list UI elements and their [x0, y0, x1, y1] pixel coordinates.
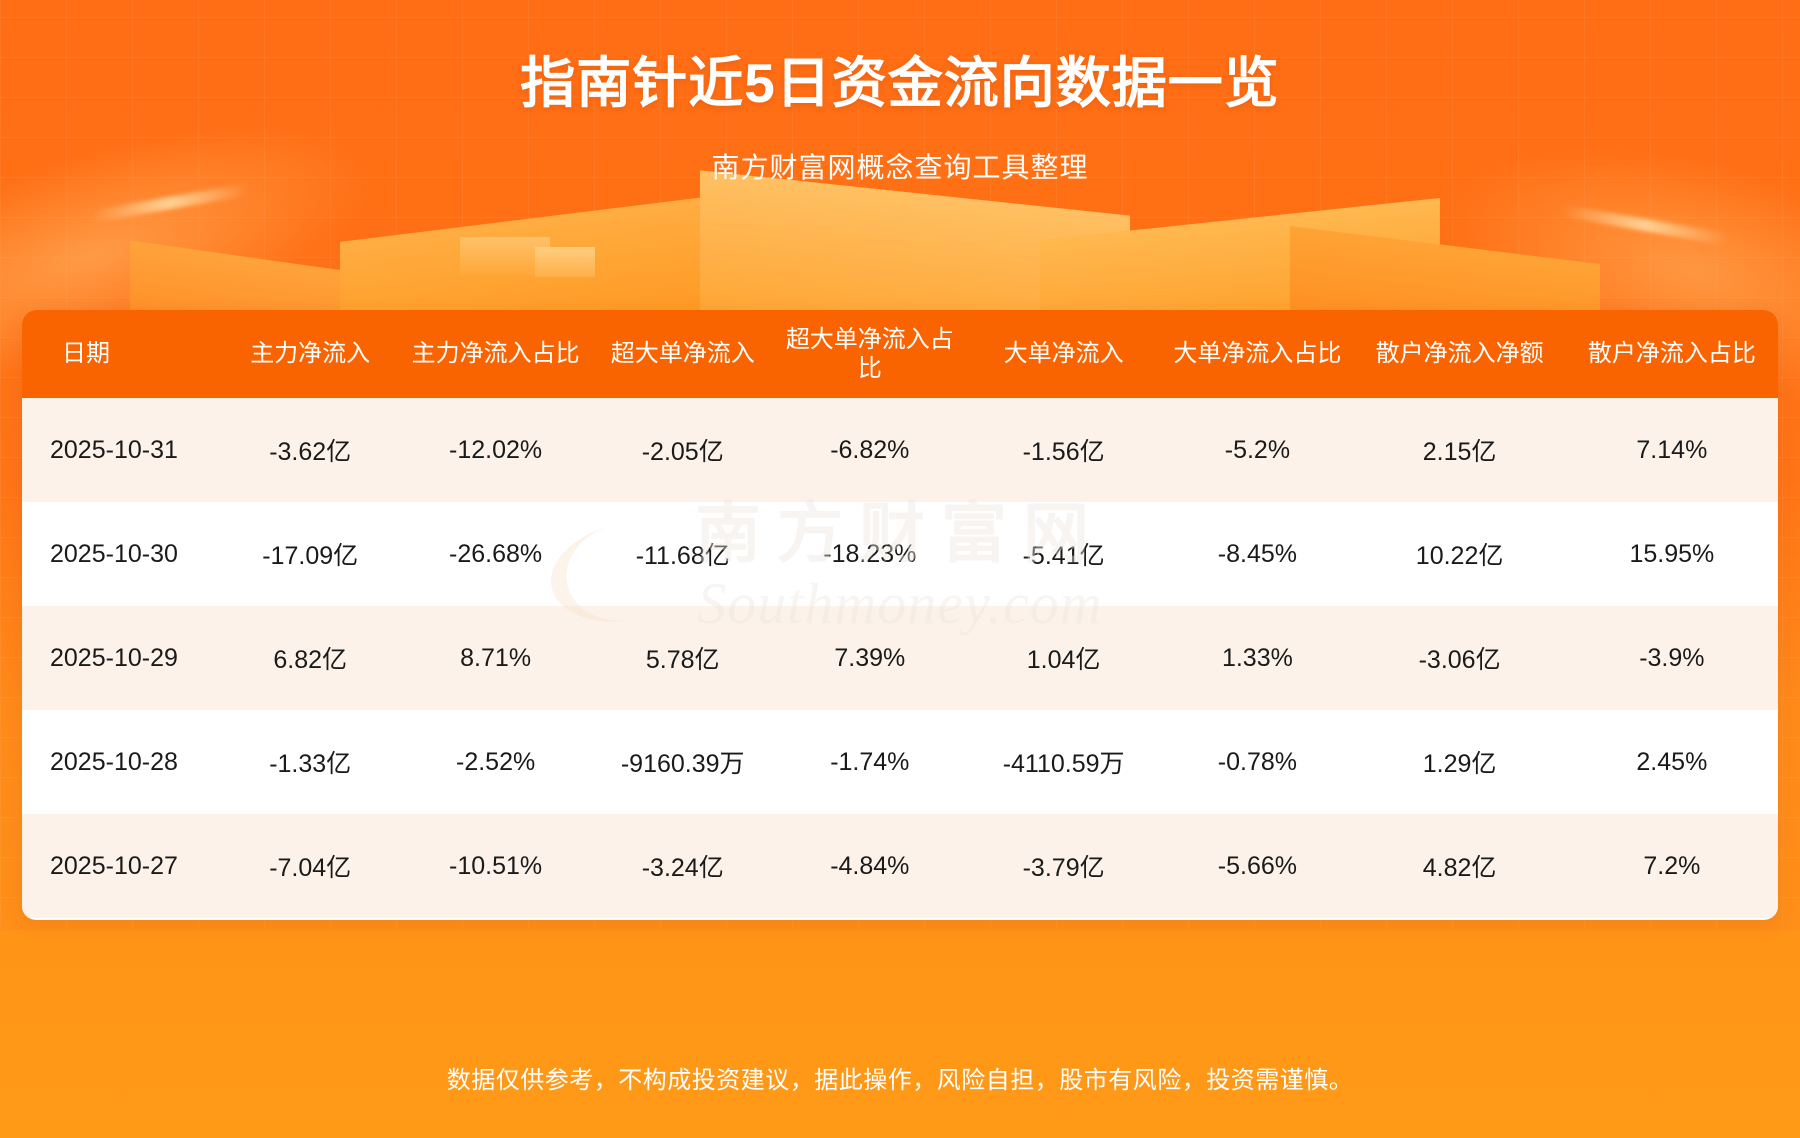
table-body: 2025-10-31 -3.62亿 -12.02% -2.05亿 -6.82% …: [22, 398, 1778, 918]
cell-xl-pct: -6.82%: [774, 398, 966, 502]
cell-large-net: 1.04亿: [966, 606, 1161, 710]
cell-large-pct: -5.66%: [1161, 814, 1353, 918]
cell-date: 2025-10-28: [22, 710, 221, 814]
disclaimer-text: 数据仅供参考，不构成投资建议，据此操作，风险自担，股市有风险，投资需谨慎。: [0, 1060, 1800, 1095]
footer-band: [0, 930, 1800, 1138]
cell-xl-pct: -1.74%: [774, 710, 966, 814]
cell-xl-net: 5.78亿: [592, 606, 774, 710]
table-row: 2025-10-30 -17.09亿 -26.68% -11.68亿 -18.2…: [22, 502, 1778, 606]
cell-retail-net: 4.82亿: [1353, 814, 1565, 918]
cell-large-pct: -0.78%: [1161, 710, 1353, 814]
table-header-row: 日期 主力净流入 主力净流入占比 超大单净流入 超大单净流入占比 大单净流入 大…: [22, 310, 1778, 398]
cell-main-net: -7.04亿: [221, 814, 400, 918]
cell-main-net: 6.82亿: [221, 606, 400, 710]
cell-main-pct: -12.02%: [400, 398, 592, 502]
cell-main-pct: 8.71%: [400, 606, 592, 710]
cell-xl-net: -2.05亿: [592, 398, 774, 502]
cell-xl-net: -3.24亿: [592, 814, 774, 918]
cell-large-pct: 1.33%: [1161, 606, 1353, 710]
cell-xl-net: -9160.39万: [592, 710, 774, 814]
fund-flow-table: 日期 主力净流入 主力净流入占比 超大单净流入 超大单净流入占比 大单净流入 大…: [22, 310, 1778, 918]
cell-main-pct: -10.51%: [400, 814, 592, 918]
cell-large-pct: -5.2%: [1161, 398, 1353, 502]
page-subtitle: 南方财富网概念查询工具整理: [0, 146, 1800, 186]
column-header-main-pct: 主力净流入占比: [400, 310, 592, 398]
cell-large-net: -3.79亿: [966, 814, 1161, 918]
light-streak-right: [1560, 204, 1730, 245]
cell-xl-net: -11.68亿: [592, 502, 774, 606]
cell-retail-net: 10.22亿: [1353, 502, 1565, 606]
cell-large-net: -1.56亿: [966, 398, 1161, 502]
cell-retail-pct: 7.2%: [1566, 814, 1778, 918]
cell-large-pct: -8.45%: [1161, 502, 1353, 606]
cell-xl-pct: -4.84%: [774, 814, 966, 918]
table-header: 日期 主力净流入 主力净流入占比 超大单净流入 超大单净流入占比 大单净流入 大…: [22, 310, 1778, 398]
column-header-retail-net: 散户净流入净额: [1353, 310, 1565, 398]
cell-retail-pct: 2.45%: [1566, 710, 1778, 814]
cell-retail-net: -3.06亿: [1353, 606, 1565, 710]
column-header-xl-pct: 超大单净流入占比: [774, 310, 966, 398]
cell-retail-pct: -3.9%: [1566, 606, 1778, 710]
podium-block-g: [535, 247, 595, 277]
column-header-xl-net: 超大单净流入: [592, 310, 774, 398]
cell-xl-pct: 7.39%: [774, 606, 966, 710]
page-title: 指南针近5日资金流向数据一览: [0, 38, 1800, 118]
cell-retail-net: 2.15亿: [1353, 398, 1565, 502]
cell-main-pct: -2.52%: [400, 710, 592, 814]
cell-date: 2025-10-30: [22, 502, 221, 606]
cell-date: 2025-10-29: [22, 606, 221, 710]
column-header-large-pct: 大单净流入占比: [1161, 310, 1353, 398]
table-row: 2025-10-29 6.82亿 8.71% 5.78亿 7.39% 1.04亿…: [22, 606, 1778, 710]
cell-main-pct: -26.68%: [400, 502, 592, 606]
cell-main-net: -17.09亿: [221, 502, 400, 606]
table-row: 2025-10-31 -3.62亿 -12.02% -2.05亿 -6.82% …: [22, 398, 1778, 502]
cell-date: 2025-10-27: [22, 814, 221, 918]
cell-retail-pct: 7.14%: [1566, 398, 1778, 502]
column-header-retail-pct: 散户净流入占比: [1566, 310, 1778, 398]
cell-date: 2025-10-31: [22, 398, 221, 502]
cell-retail-net: 1.29亿: [1353, 710, 1565, 814]
cell-xl-pct: -18.23%: [774, 502, 966, 606]
cell-large-net: -4110.59万: [966, 710, 1161, 814]
column-header-main-net: 主力净流入: [221, 310, 400, 398]
table-row: 2025-10-28 -1.33亿 -2.52% -9160.39万 -1.74…: [22, 710, 1778, 814]
table-row: 2025-10-27 -7.04亿 -10.51% -3.24亿 -4.84% …: [22, 814, 1778, 918]
data-table-card: 日期 主力净流入 主力净流入占比 超大单净流入 超大单净流入占比 大单净流入 大…: [22, 310, 1778, 920]
column-header-large-net: 大单净流入: [966, 310, 1161, 398]
cell-large-net: -5.41亿: [966, 502, 1161, 606]
cell-main-net: -1.33亿: [221, 710, 400, 814]
light-streak-left: [90, 183, 250, 223]
cell-main-net: -3.62亿: [221, 398, 400, 502]
cell-retail-pct: 15.95%: [1566, 502, 1778, 606]
column-header-date: 日期: [22, 310, 221, 398]
